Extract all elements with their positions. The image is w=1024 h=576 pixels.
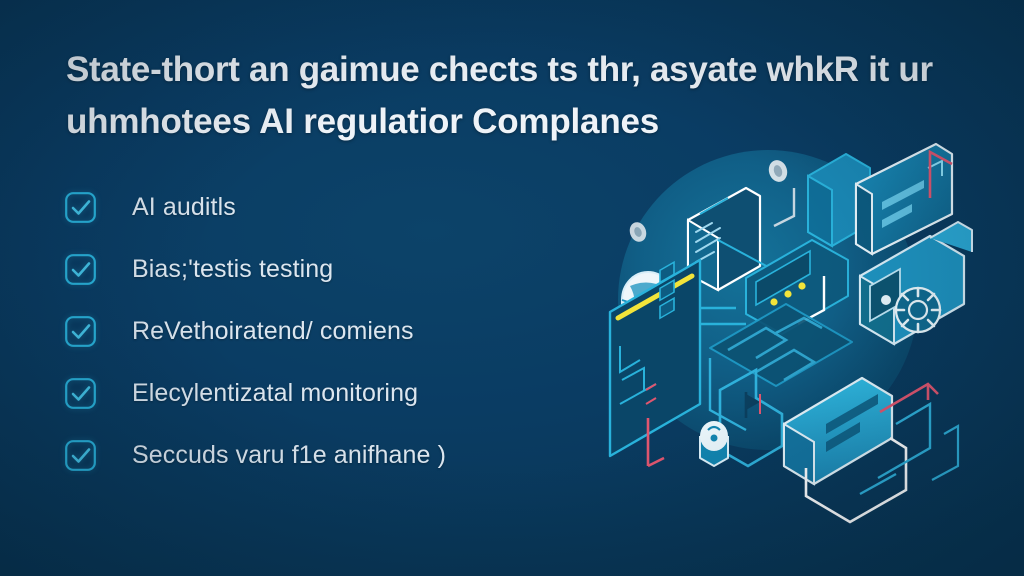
lock-icon [700,421,728,466]
list-item[interactable]: Bias;'testis testing [64,238,584,300]
list-item-label: AI auditls [132,193,236,222]
checkbox-checked-icon[interactable] [64,191,97,224]
gear-icon [896,288,940,332]
list-item-label: ReVethoiratend/ comiens [132,317,414,346]
slide-root: State-thort an gaimue chects ts thr, asy… [0,0,1024,576]
checkbox-checked-icon[interactable] [64,377,97,410]
list-item[interactable]: Elecylentizatal monitoring [64,362,584,424]
title-line-1: State-thort an gaimue chects ts thr, asy… [66,44,934,96]
isometric-tech-compliance-illustration [560,128,980,528]
checkbox-checked-icon[interactable] [64,315,97,348]
checkbox-checked-icon[interactable] [64,439,97,472]
page-title: State-thort an gaimue chects ts thr, asy… [66,44,934,148]
list-item[interactable]: Seccuds varu f1e anifhane ) [64,424,584,486]
connector-bracket [932,426,958,480]
title-line-2: uhmhotees AI regulatior Complanes [66,96,934,148]
checklist: AI auditls Bias;'testis testing ReVethoi… [64,176,584,486]
checkbox-checked-icon[interactable] [64,253,97,286]
list-item-label: Bias;'testis testing [132,255,333,284]
list-item-label: Elecylentizatal monitoring [132,379,418,408]
list-item-label: Seccuds varu f1e anifhane ) [132,441,446,470]
list-item[interactable]: ReVethoiratend/ comiens [64,300,584,362]
list-item[interactable]: AI auditls [64,176,584,238]
